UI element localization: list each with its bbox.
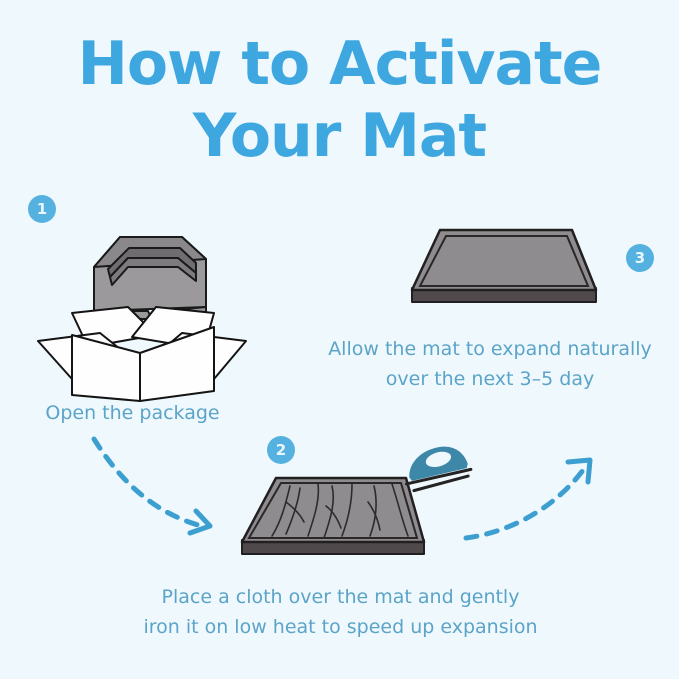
dashed-arrow-step2-to-step3 bbox=[452, 440, 612, 555]
step-number-badge-2: 2 bbox=[267, 436, 295, 464]
flat-mat-icon bbox=[398, 218, 613, 318]
page-title: How to Activate Your Mat bbox=[0, 28, 679, 172]
step-number-badge-3: 3 bbox=[626, 244, 654, 272]
step-caption-2: Place a cloth over the mat and gently ir… bbox=[78, 582, 603, 642]
step-caption-3: Allow the mat to expand naturally over t… bbox=[300, 334, 679, 394]
open-box-with-mat-icon bbox=[28, 215, 258, 405]
infographic-canvas: How to Activate Your Mat 1 Open the pack… bbox=[0, 0, 679, 679]
step-caption-1: Open the package bbox=[0, 398, 265, 428]
dashed-arrow-step1-to-step2 bbox=[78, 425, 228, 545]
